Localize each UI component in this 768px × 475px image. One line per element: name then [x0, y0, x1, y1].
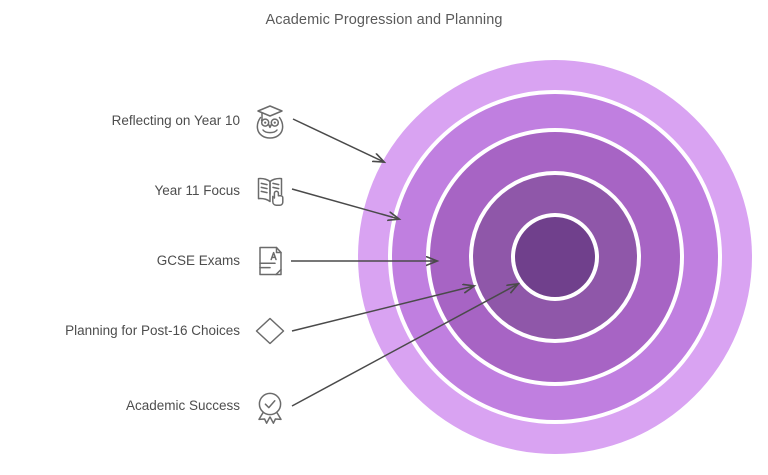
diagram-canvas: Academic Progression and Planning Reflec… — [0, 0, 768, 475]
arrow-reflecting-on-year-10 — [293, 119, 384, 162]
exam-paper-grade-a-icon — [248, 239, 292, 283]
label-row-academic-success[interactable]: Academic Success — [0, 383, 292, 429]
label-text: Reflecting on Year 10 — [112, 114, 240, 128]
label-row-gcse-exams[interactable]: GCSE Exams — [0, 238, 292, 284]
label-text: Year 11 Focus — [154, 184, 240, 198]
label-row-planning-for-post-16-choices[interactable]: Planning for Post-16 Choices — [0, 308, 292, 354]
label-text: Academic Success — [126, 399, 240, 413]
label-text: GCSE Exams — [157, 254, 240, 268]
label-row-year-11-focus[interactable]: Year 11 Focus — [0, 168, 292, 214]
label-row-reflecting-on-year-10[interactable]: Reflecting on Year 10 — [0, 98, 292, 144]
ring-core-5[interactable] — [515, 217, 595, 297]
label-text: Planning for Post-16 Choices — [65, 324, 240, 338]
award-ribbon-check-icon — [248, 384, 292, 428]
diamond-icon — [248, 309, 292, 353]
page-title: Academic Progression and Planning — [0, 12, 768, 28]
owl-graduate-icon — [248, 99, 292, 143]
open-book-hand-icon — [248, 169, 292, 213]
